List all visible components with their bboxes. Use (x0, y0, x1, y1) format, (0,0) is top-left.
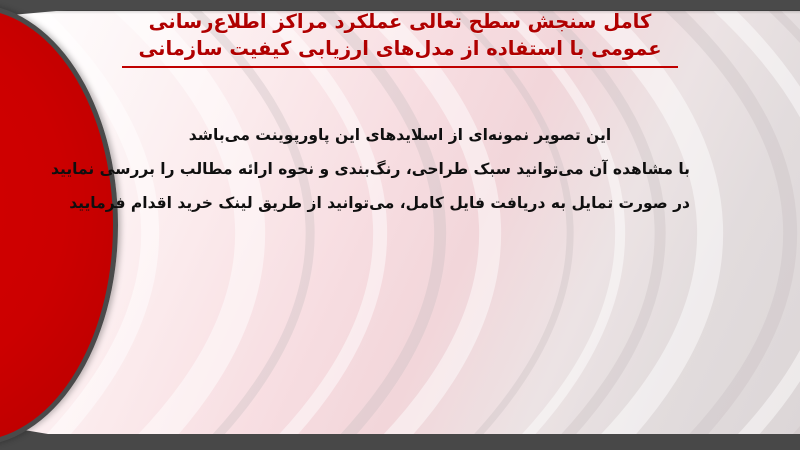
title-underline-rule (122, 66, 678, 68)
slide-background (0, 8, 800, 437)
body-line-2: با مشاهده آن می‌توانید سبک طراحی، رنگ‌بن… (110, 152, 690, 186)
title-line-2: عمومی با استفاده از مدل‌های ارزیابی کیفی… (112, 35, 688, 62)
title-line-1: کامل سنجش سطح تعالی عملکرد مراکز اطلاع‌ر… (112, 8, 688, 35)
body-line-1: این تصویر نمونه‌ای از اسلایدهای این پاور… (110, 118, 690, 152)
body-line-3: در صورت تمایل به دریافت فایل کامل، می‌تو… (110, 186, 690, 220)
slide-canvas: کامل سنجش سطح تعالی عملکرد مراکز اطلاع‌ر… (0, 0, 800, 450)
slide-body-text: این تصویر نمونه‌ای از اسلایدهای این پاور… (110, 118, 690, 220)
slide-title: کامل سنجش سطح تعالی عملکرد مراکز اطلاع‌ر… (112, 8, 688, 68)
bottom-frame-bar (0, 434, 800, 450)
